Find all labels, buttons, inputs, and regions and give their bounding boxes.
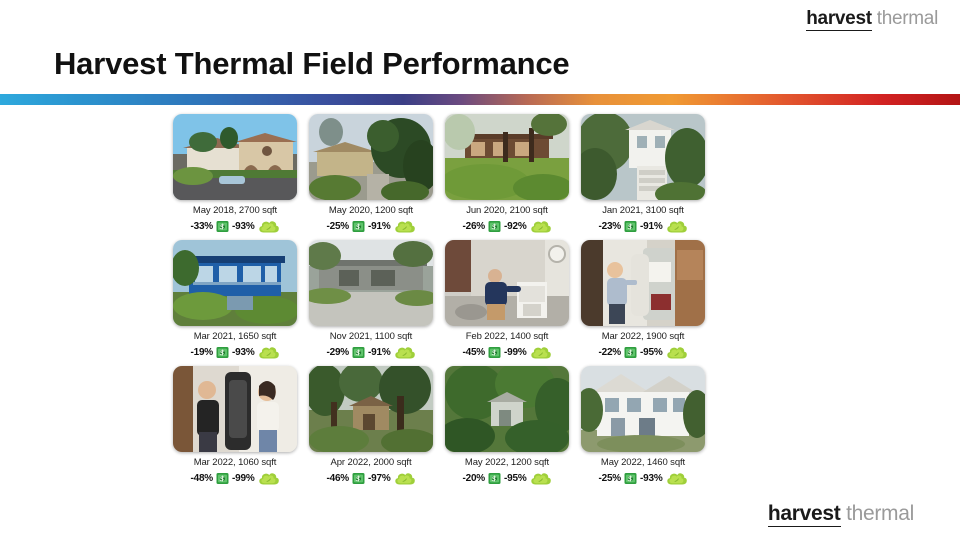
site-metrics: -45% -99%: [462, 344, 551, 360]
money-banknote-icon: [488, 345, 501, 360]
green-cloud-icon: [666, 218, 688, 234]
field-site-card[interactable]: Mar 2022, 1060 sqft -48% -99%: [168, 366, 302, 486]
money-banknote-icon: [624, 471, 637, 486]
money-banknote-icon: [216, 219, 229, 234]
green-cloud-icon: [666, 470, 688, 486]
site-photo[interactable]: [173, 366, 297, 452]
field-site-card[interactable]: May 2018, 2700 sqft -33% -93%: [168, 114, 302, 234]
green-cloud-icon: [258, 470, 280, 486]
site-caption: Mar 2022, 1060 sqft: [194, 457, 277, 468]
cost-savings-value: -22%: [598, 347, 621, 358]
site-photo[interactable]: [309, 366, 433, 452]
money-banknote-icon: [216, 345, 229, 360]
site-photo[interactable]: [581, 366, 705, 452]
site-caption: May 2022, 1460 sqft: [601, 457, 685, 468]
field-site-card[interactable]: Feb 2022, 1400 sqft -45% -99%: [440, 240, 574, 360]
site-photo[interactable]: [445, 240, 569, 326]
cost-savings-value: -20%: [462, 473, 485, 484]
green-cloud-icon: [258, 218, 280, 234]
money-banknote-icon: [352, 471, 365, 486]
emissions-reduction-value: -92%: [504, 221, 527, 232]
emissions-reduction-value: -93%: [640, 473, 663, 484]
field-site-card[interactable]: Mar 2022, 1900 sqft -22% -95%: [576, 240, 710, 360]
emissions-reduction-value: -95%: [504, 473, 527, 484]
site-metrics: -25% -91%: [326, 218, 415, 234]
money-banknote-icon: [352, 345, 365, 360]
site-metrics: -19% -93%: [190, 344, 279, 360]
gradient-divider: [0, 94, 960, 105]
site-photo[interactable]: [581, 240, 705, 326]
site-metrics: -29% -91%: [326, 344, 415, 360]
field-site-card[interactable]: May 2020, 1200 sqft -25% -91%: [304, 114, 438, 234]
green-cloud-icon: [394, 344, 416, 360]
site-caption: Apr 2022, 2000 sqft: [330, 457, 411, 468]
logo-word-harvest: harvest: [806, 8, 872, 31]
site-photo[interactable]: [173, 240, 297, 326]
site-caption: May 2020, 1200 sqft: [329, 205, 413, 216]
cost-savings-value: -25%: [326, 221, 349, 232]
site-metrics: -33% -93%: [190, 218, 279, 234]
site-photo[interactable]: [173, 114, 297, 200]
field-site-card[interactable]: Nov 2021, 1100 sqft -29% -91%: [304, 240, 438, 360]
field-site-card[interactable]: Mar 2021, 1650 sqft -19% -93%: [168, 240, 302, 360]
field-site-card[interactable]: May 2022, 1200 sqft -20% -95%: [440, 366, 574, 486]
money-banknote-icon: [488, 219, 501, 234]
site-caption: Jan 2021, 3100 sqft: [602, 205, 684, 216]
site-metrics: -48% -99%: [190, 470, 279, 486]
cost-savings-value: -26%: [462, 221, 485, 232]
cost-savings-value: -46%: [326, 473, 349, 484]
site-metrics: -20% -95%: [462, 470, 551, 486]
emissions-reduction-value: -91%: [368, 221, 391, 232]
cost-savings-value: -33%: [190, 221, 213, 232]
field-site-card[interactable]: May 2022, 1460 sqft -25% -93%: [576, 366, 710, 486]
header-logo: harvest thermal: [806, 8, 938, 30]
green-cloud-icon: [258, 344, 280, 360]
footer-logo-word-thermal: thermal: [846, 502, 914, 526]
site-metrics: -25% -93%: [598, 470, 687, 486]
site-photo[interactable]: [445, 114, 569, 200]
site-caption: May 2018, 2700 sqft: [193, 205, 277, 216]
money-banknote-icon: [624, 345, 637, 360]
site-caption: Jun 2020, 2100 sqft: [466, 205, 548, 216]
site-caption: May 2022, 1200 sqft: [465, 457, 549, 468]
cost-savings-value: -23%: [598, 221, 621, 232]
cost-savings-value: -45%: [462, 347, 485, 358]
emissions-reduction-value: -95%: [640, 347, 663, 358]
site-metrics: -22% -95%: [598, 344, 687, 360]
emissions-reduction-value: -99%: [504, 347, 527, 358]
emissions-reduction-value: -91%: [640, 221, 663, 232]
logo-word-thermal: thermal: [877, 8, 938, 30]
money-banknote-icon: [488, 471, 501, 486]
site-caption: Feb 2022, 1400 sqft: [466, 331, 549, 342]
emissions-reduction-value: -93%: [232, 347, 255, 358]
emissions-reduction-value: -99%: [232, 473, 255, 484]
page-title: Harvest Thermal Field Performance: [54, 46, 569, 82]
money-banknote-icon: [624, 219, 637, 234]
field-site-card[interactable]: Jan 2021, 3100 sqft -23% -91%: [576, 114, 710, 234]
field-performance-grid: May 2018, 2700 sqft -33% -93% May 2020, …: [168, 114, 728, 486]
green-cloud-icon: [394, 218, 416, 234]
cost-savings-value: -29%: [326, 347, 349, 358]
emissions-reduction-value: -97%: [368, 473, 391, 484]
cost-savings-value: -48%: [190, 473, 213, 484]
site-metrics: -23% -91%: [598, 218, 687, 234]
site-photo[interactable]: [581, 114, 705, 200]
emissions-reduction-value: -91%: [368, 347, 391, 358]
green-cloud-icon: [530, 470, 552, 486]
green-cloud-icon: [666, 344, 688, 360]
money-banknote-icon: [352, 219, 365, 234]
site-caption: Nov 2021, 1100 sqft: [330, 331, 412, 342]
site-caption: Mar 2022, 1900 sqft: [602, 331, 685, 342]
field-site-card[interactable]: Jun 2020, 2100 sqft -26% -92%: [440, 114, 574, 234]
cost-savings-value: -19%: [190, 347, 213, 358]
site-photo[interactable]: [309, 114, 433, 200]
green-cloud-icon: [394, 470, 416, 486]
site-photo[interactable]: [445, 366, 569, 452]
site-metrics: -26% -92%: [462, 218, 551, 234]
cost-savings-value: -25%: [598, 473, 621, 484]
site-photo[interactable]: [309, 240, 433, 326]
field-site-card[interactable]: Apr 2022, 2000 sqft -46% -97%: [304, 366, 438, 486]
money-banknote-icon: [216, 471, 229, 486]
footer-logo-word-harvest: harvest: [768, 502, 841, 527]
site-caption: Mar 2021, 1650 sqft: [194, 331, 277, 342]
green-cloud-icon: [530, 344, 552, 360]
emissions-reduction-value: -93%: [232, 221, 255, 232]
green-cloud-icon: [530, 218, 552, 234]
site-metrics: -46% -97%: [326, 470, 415, 486]
footer-logo: harvest thermal: [768, 502, 914, 526]
